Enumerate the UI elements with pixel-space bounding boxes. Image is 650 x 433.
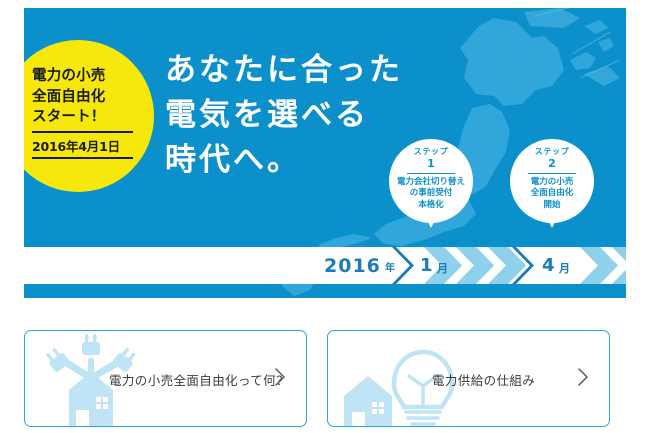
hero-headline-line-1: あなたに合った [165, 48, 403, 93]
step-bubble-2: ステップ 2 電力の小売 全面自由化 開始 [510, 139, 594, 223]
step-2-number: 2 [510, 157, 594, 171]
step-bubble-1-content: ステップ 1 電力会社切り替え の事前受付 本格化 [389, 148, 473, 212]
hero-timeline: 2016 年 1 月 4 月 [24, 247, 626, 284]
hero-banner: 電力の小売 全面自由化 スタート！ 2016年4月1日 あなたに合った 電気を選… [24, 8, 626, 298]
step-1-desc-line-3: 本格化 [389, 200, 473, 212]
link-card-row: 電力の小売全面自由化って何？ [24, 330, 626, 428]
chevron-right-icon[interactable] [274, 367, 286, 387]
step-1-label: ステップ [389, 148, 473, 157]
launch-badge-content: 電力の小売 全面自由化 スタート！ 2016年4月1日 [32, 66, 150, 159]
step-2-desc-line-1: 電力の小売 [510, 177, 594, 189]
step-bubble-1-pointer [425, 216, 437, 228]
step-bubble-2-content: ステップ 2 電力の小売 全面自由化 開始 [510, 148, 594, 212]
step-1-desc-line-2: の事前受付 [389, 188, 473, 200]
step-bubble-2-pointer [546, 216, 558, 228]
launch-badge-date: 2016年4月1日 [32, 136, 150, 155]
launch-badge-line-1: 電力の小売 [32, 66, 150, 87]
launch-badge-line-3: スタート！ [32, 107, 150, 128]
step-2-desc-line-3: 開始 [510, 200, 594, 212]
timeline-month-2-unit: 月 [559, 263, 570, 274]
step-1-desc-line-1: 電力会社切り替え [389, 177, 473, 189]
launch-badge-line-2: 全面自由化 [32, 87, 150, 108]
step-2-desc-line-2: 全面自由化 [510, 188, 594, 200]
timeline-month-2: 4 [542, 257, 555, 275]
timeline-month-1: 1 [420, 257, 433, 275]
launch-badge-divider-top [32, 131, 133, 133]
hero-headline-line-2: 電気を選べる [165, 93, 403, 138]
link-card-title: 電力の小売全面自由化って何？ [109, 370, 289, 389]
launch-badge-divider-bottom [32, 157, 133, 159]
launch-badge: 電力の小売 全面自由化 スタート！ 2016年4月1日 [24, 40, 154, 192]
step-1-number: 1 [389, 157, 473, 171]
hero-headline: あなたに合った 電気を選べる 時代へ。 [165, 48, 403, 183]
link-card-power-supply[interactable]: 電力供給の仕組み [327, 330, 610, 427]
chevron-right-icon[interactable] [577, 367, 589, 387]
step-bubble-1: ステップ 1 電力会社切り替え の事前受付 本格化 [389, 139, 473, 223]
step-2-label: ステップ [510, 148, 594, 157]
timeline-year: 2016 [324, 257, 381, 276]
link-card-title: 電力供給の仕組み [432, 370, 535, 389]
timeline-month-1-unit: 月 [437, 263, 448, 274]
hero-headline-line-3: 時代へ。 [165, 138, 403, 183]
step-2-divider [528, 173, 576, 174]
step-1-divider [407, 173, 455, 174]
link-card-retail-liberalization[interactable]: 電力の小売全面自由化って何？ [24, 330, 307, 427]
timeline-year-unit: 年 [385, 264, 395, 274]
